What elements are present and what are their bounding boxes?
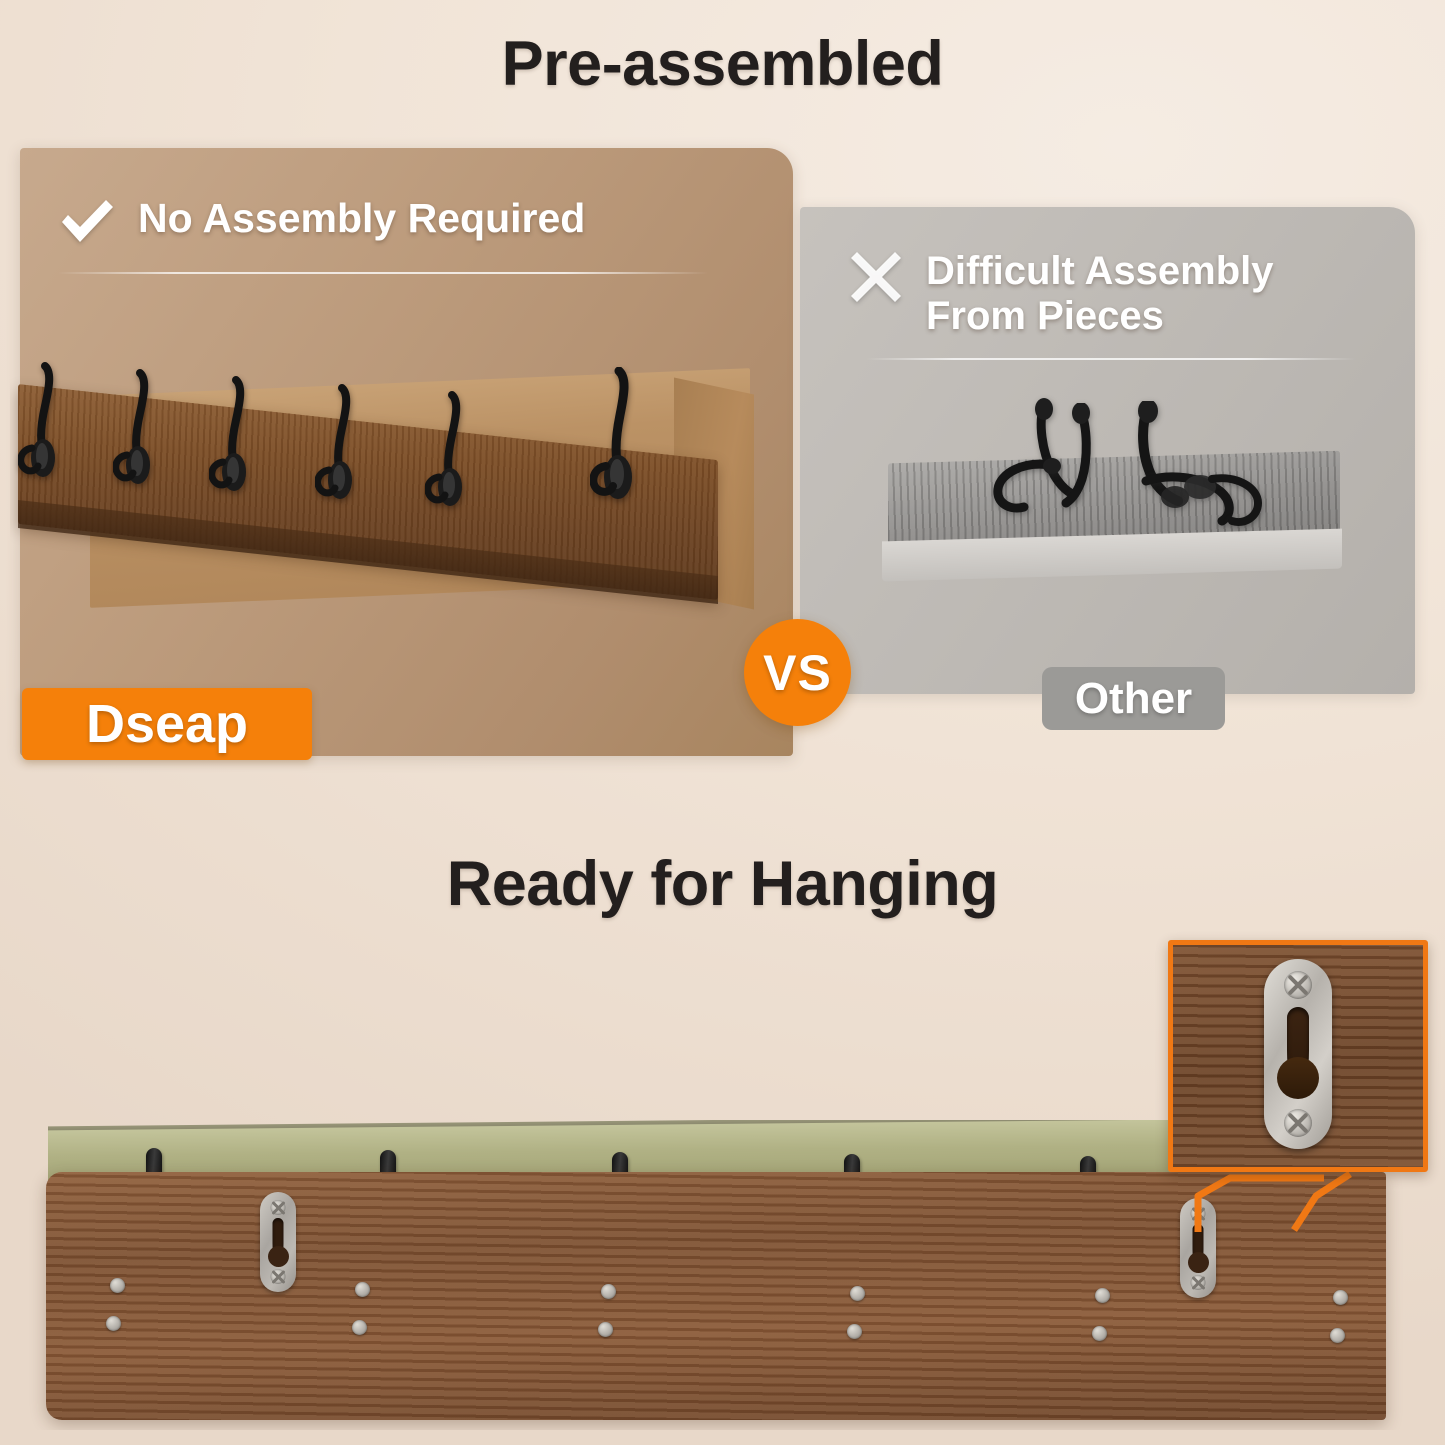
brand-badge-other: Other: [1042, 667, 1225, 730]
hook-icon: [315, 384, 359, 522]
plate-screw: [1191, 1275, 1206, 1290]
mounting-screw: [598, 1322, 613, 1337]
mounting-screw: [1333, 1290, 1348, 1305]
loose-hook-icon: [990, 457, 1070, 521]
hook-icon: [18, 362, 62, 500]
plate-screw: [1191, 1206, 1206, 1221]
product-infographic: Pre-assembled No Assembly Required: [0, 0, 1445, 1445]
mounting-screw: [1330, 1328, 1345, 1343]
hook-icon: [209, 376, 253, 514]
keyhole-plate: [260, 1192, 296, 1292]
keyhole-plate-closeup: [1264, 959, 1332, 1149]
mounting-screw: [355, 1282, 370, 1297]
photo-loose-pieces: [830, 385, 1395, 600]
hook-icon: [590, 367, 634, 505]
plate-screw: [1284, 971, 1312, 999]
mounting-screw: [847, 1324, 862, 1339]
mounting-screw: [1095, 1288, 1110, 1303]
photo-preassembled-rack: [10, 360, 770, 650]
page-title-pre-assembled: Pre-assembled: [0, 28, 1445, 100]
mounting-screw: [352, 1320, 367, 1335]
mounting-screw: [106, 1316, 121, 1331]
divider-bad: [866, 358, 1356, 360]
keyhole-slot: [1193, 1224, 1204, 1270]
mounting-screw: [850, 1286, 865, 1301]
claim-label: No Assembly Required: [138, 196, 585, 240]
claim-line-2: From Pieces: [926, 294, 1164, 338]
vs-badge: VS: [744, 619, 851, 726]
hook-icon: [425, 391, 469, 529]
plate-screw: [271, 1200, 286, 1215]
mounting-screw: [601, 1284, 616, 1299]
loose-hook-icon: [1200, 469, 1270, 535]
page-title-ready-for-hanging: Ready for Hanging: [0, 848, 1445, 920]
keyhole-slot: [273, 1218, 284, 1264]
plate-screw: [1284, 1109, 1312, 1137]
claim-line-1: Difficult Assembly: [926, 249, 1273, 293]
check-icon: [58, 196, 116, 248]
keyhole-plate: [1180, 1198, 1216, 1298]
hook-icon: [113, 369, 157, 507]
claim-no-assembly: No Assembly Required: [58, 196, 585, 248]
keyhole-closeup-inset: [1168, 940, 1428, 1172]
brand-badge-dseap: Dseap: [22, 688, 312, 760]
plate-screw: [271, 1269, 286, 1284]
mounting-screw: [1092, 1326, 1107, 1341]
mounting-screw: [110, 1278, 125, 1293]
divider-good: [58, 272, 708, 274]
keyhole-slot: [1287, 1007, 1309, 1093]
claim-label: Difficult Assembly From Pieces: [926, 249, 1273, 339]
x-icon: [848, 249, 904, 305]
claim-difficult-assembly: Difficult Assembly From Pieces: [848, 249, 1273, 339]
